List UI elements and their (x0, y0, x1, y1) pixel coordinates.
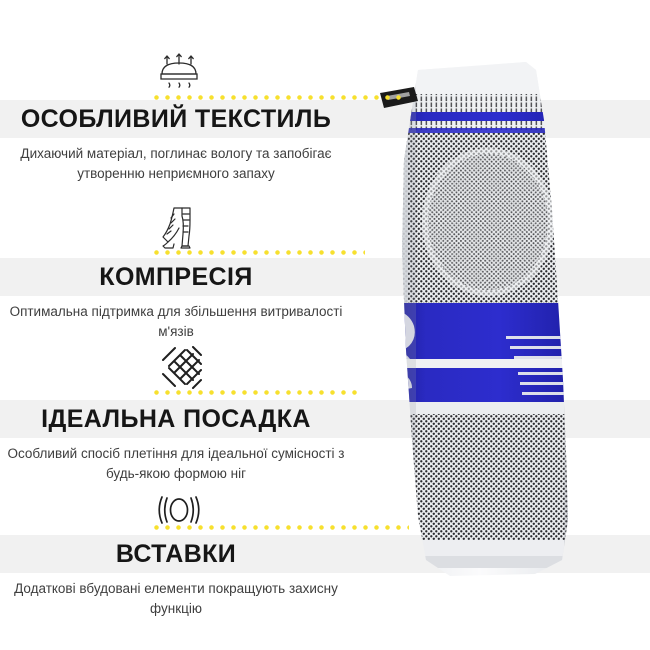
feature-description: Особливий спосіб плетіння для ідеальної … (0, 438, 352, 484)
breathable-fabric-icon (149, 48, 209, 96)
feature-block-2: КОМПРЕСІЯ Оптимальна підтримка для збіль… (0, 258, 352, 342)
infographic-page: ОСОБЛИВИЙ ТЕКСТИЛЬ Дихаючий матеріал, по… (0, 0, 650, 650)
knit-weave-icon (149, 344, 209, 392)
feature-block-1: ОСОБЛИВИЙ ТЕКСТИЛЬ Дихаючий матеріал, по… (0, 100, 352, 184)
feature-description: Дихаючий матеріал, поглинає вологу та за… (0, 138, 352, 184)
feature-title: ІДЕАЛЬНА ПОСАДКА (0, 400, 352, 438)
feature-block-3: ІДЕАЛЬНА ПОСАДКА Особливий спосіб плетін… (0, 400, 352, 484)
feature-description: Оптимальна підтримка для збільшення витр… (0, 296, 352, 342)
feature-block-4: ВСТАВКИ Додаткові вбудовані елементи пок… (0, 535, 352, 619)
feature-title: ВСТАВКИ (0, 535, 352, 573)
feature-title: КОМПРЕСІЯ (0, 258, 352, 296)
compression-legs-icon (149, 204, 209, 252)
feature-description: Додаткові вбудовані елементи покращують … (0, 573, 352, 619)
silicone-insert-icon (149, 486, 209, 534)
sleeve-body (390, 50, 592, 590)
feature-title: ОСОБЛИВИЙ ТЕКСТИЛЬ (0, 100, 352, 138)
